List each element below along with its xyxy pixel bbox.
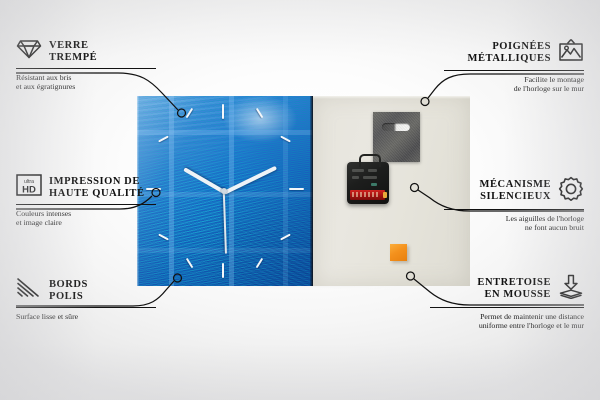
movement-hanger-loop <box>359 154 381 167</box>
divider <box>16 307 156 308</box>
feature-title: POIGNÉES MÉTALLIQUES <box>468 41 551 64</box>
svg-text:HD: HD <box>22 184 36 195</box>
divider <box>16 68 156 69</box>
feature-description: Permet de maintenir une distance uniform… <box>430 312 584 331</box>
infographic-canvas: VERRE TREMPÉ Résistant aux bris et aux é… <box>0 0 600 400</box>
feature-description: Surface lisse et sûre <box>16 312 156 321</box>
feature-callout-mecanisme-silencieux[interactable]: MÉCANISME SILENCIEUX Les aiguilles de l'… <box>444 176 584 232</box>
feature-description: Résistant aux bris et aux égratignures <box>16 73 156 92</box>
divider <box>444 70 584 71</box>
feature-title: BORDS POLIS <box>49 279 88 302</box>
product-photo <box>137 96 470 286</box>
feature-description: Facilite le montage de l'horloge sur le … <box>444 75 584 94</box>
battery <box>350 190 385 200</box>
diamond-icon <box>16 38 42 65</box>
feature-title: MÉCANISME SILENCIEUX <box>480 179 551 202</box>
feature-title: VERRE TREMPÉ <box>49 40 97 63</box>
feature-callout-impression-haute-qualite[interactable]: ultra HD IMPRESSION DE HAUTE QUALITÉ Cou… <box>16 174 156 227</box>
divider <box>444 209 584 210</box>
handle-slot <box>382 123 410 131</box>
divider <box>16 204 156 205</box>
feature-description: Couleurs intenses et image claire <box>16 209 156 228</box>
feature-description: Les aiguilles de l'horloge ne font aucun… <box>444 214 584 233</box>
gear-icon <box>558 176 584 206</box>
ultra-hd-icon: ultra HD <box>16 174 42 201</box>
feature-callout-verre-trempe[interactable]: VERRE TREMPÉ Résistant aux bris et aux é… <box>16 38 156 91</box>
polished-edge-icon <box>16 277 42 304</box>
clock-face <box>137 96 313 286</box>
feature-callout-poignees-metalliques[interactable]: POIGNÉES MÉTALLIQUES Facilite le montage… <box>444 38 584 93</box>
clock-movement <box>347 162 389 204</box>
foam-spacer <box>390 244 407 261</box>
feature-title: IMPRESSION DE HAUTE QUALITÉ <box>49 176 145 199</box>
feature-title: ENTRETOISE EN MOUSSE <box>477 277 551 300</box>
picture-frame-icon <box>558 38 584 67</box>
clock-hub <box>221 188 227 194</box>
foam-spacer-arrow-icon <box>558 274 584 304</box>
divider <box>430 307 584 308</box>
metal-handle <box>373 112 420 162</box>
feature-callout-entretoise-en-mousse[interactable]: ENTRETOISE EN MOUSSE Permet de maintenir… <box>430 274 584 330</box>
feature-callout-bords-polis[interactable]: BORDS POLIS Surface lisse et sûre <box>16 277 156 321</box>
